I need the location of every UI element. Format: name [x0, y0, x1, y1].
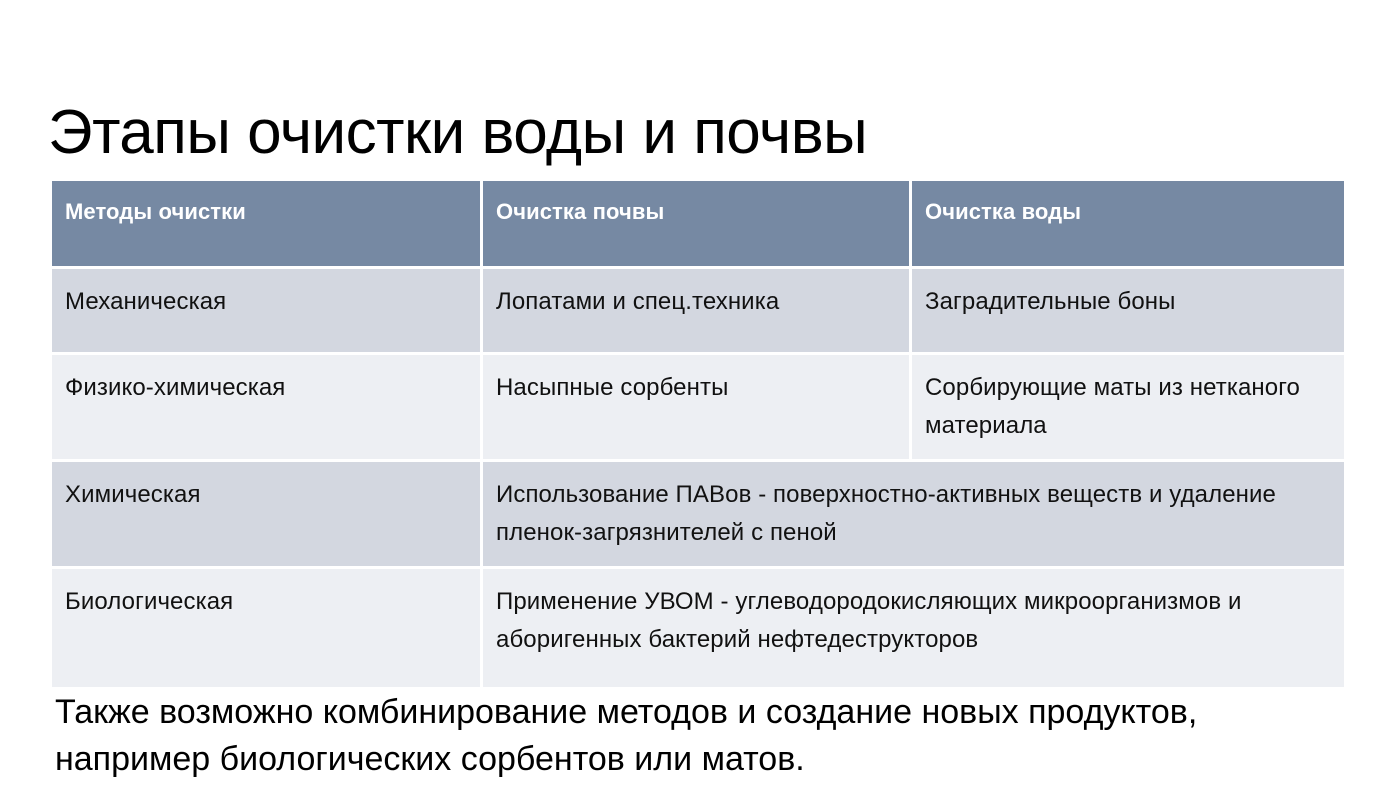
- cell-soil: Насыпные сорбенты: [483, 355, 912, 462]
- cell-method: Химическая: [52, 462, 483, 569]
- cell-method: Механическая: [52, 269, 483, 355]
- table-row: Физико-химическая Насыпные сорбенты Сорб…: [52, 355, 1344, 462]
- column-header-soil: Очистка почвы: [483, 181, 912, 269]
- cell-soil: Лопатами и спец.техника: [483, 269, 912, 355]
- footer-note: Также возможно комбинирование методов и …: [55, 689, 1305, 783]
- cell-method: Биологическая: [52, 569, 483, 687]
- table-row: Химическая Использование ПАВов - поверхн…: [52, 462, 1344, 569]
- table-header: Методы очистки Очистка почвы Очистка вод…: [52, 181, 1344, 269]
- cell-soil-water-merged: Применение УВОМ - углеводородокисляющих …: [483, 569, 1344, 687]
- table-header-row: Методы очистки Очистка почвы Очистка вод…: [52, 181, 1344, 269]
- cell-method: Физико-химическая: [52, 355, 483, 462]
- cell-soil-water-merged: Использование ПАВов - поверхностно-актив…: [483, 462, 1344, 569]
- slide-canvas: Этапы очистки воды и почвы Методы очистк…: [0, 0, 1395, 798]
- table-body: Механическая Лопатами и спец.техника Заг…: [52, 269, 1344, 687]
- cell-water: Сорбирующие маты из нетканого материала: [912, 355, 1344, 462]
- cell-water: Заградительные боны: [912, 269, 1344, 355]
- table-row: Биологическая Применение УВОМ - углеводо…: [52, 569, 1344, 687]
- cleanup-methods-table: Методы очистки Очистка почвы Очистка вод…: [52, 181, 1344, 687]
- column-header-water: Очистка воды: [912, 181, 1344, 269]
- column-header-methods: Методы очистки: [52, 181, 483, 269]
- table-row: Механическая Лопатами и спец.техника Заг…: [52, 269, 1344, 355]
- page-title: Этапы очистки воды и почвы: [48, 96, 1348, 170]
